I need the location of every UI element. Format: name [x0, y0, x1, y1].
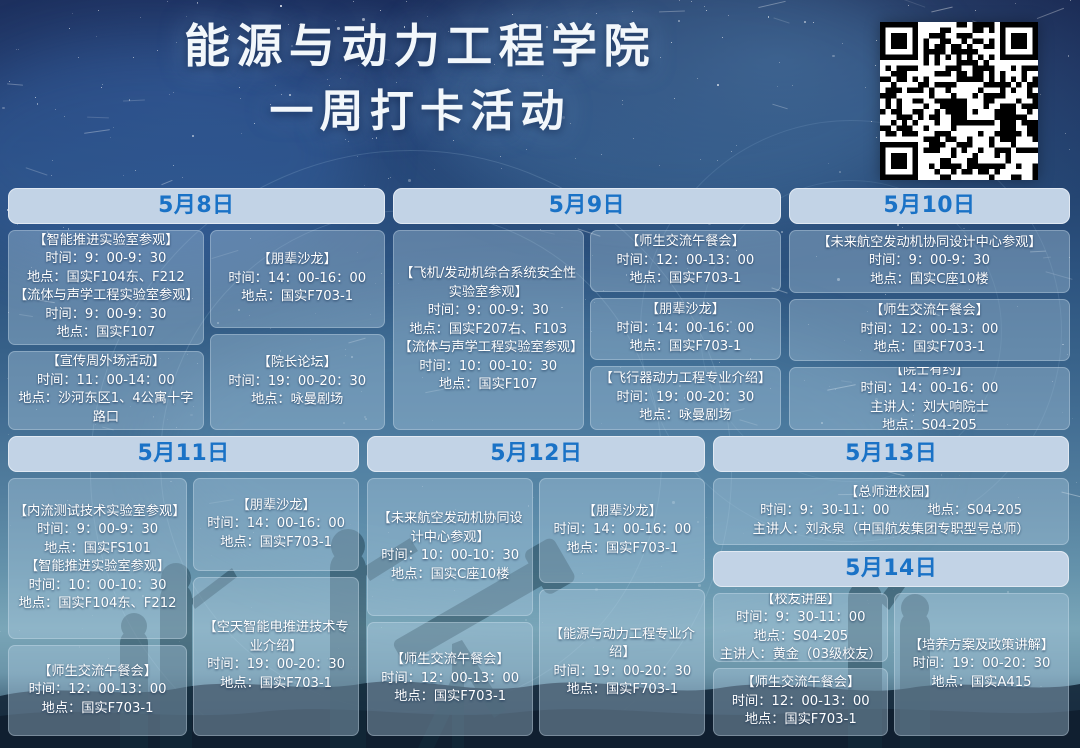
day-events: 【校友讲座】时间：9：30-11：00地点：S04-205主讲人：黄金（03级校…: [713, 593, 1068, 736]
event-location: 地点：国实F104东、F212: [14, 269, 198, 287]
event-stack: 【校友讲座】时间：9：30-11：00地点：S04-205主讲人：黄金（03级校…: [713, 593, 888, 736]
event-card: 【空天智能电推进技术专业介绍】时间：19：00-20：30地点：国实F703-1: [193, 577, 359, 736]
event-card: 【总师进校园】时间：9：30-11：00地点：S04-205主讲人：刘永泉（中国…: [713, 478, 1068, 545]
date-header[interactable]: 5月14日: [713, 551, 1068, 587]
event-title: 【能源与动力工程专业介绍】: [545, 626, 699, 663]
event-card: 【智能推进实验室参观】时间：9：00-9：30地点：国实F104东、F212【流…: [8, 230, 204, 345]
event-title: 【朋辈沙龙】: [596, 301, 775, 319]
event-title: 【院长论坛】: [216, 354, 379, 372]
event-time: 时间：12：00-13：00: [596, 252, 775, 270]
poster-header: 能源与动力工程学院 一周打卡活动: [0, 0, 1080, 190]
week-row-2: 5月11日【内流测试技术实验室参观】时间：9：00-9：30地点：国实FS101…: [0, 436, 1080, 736]
event-time: 时间：9：30-11：00: [719, 609, 882, 627]
event-location: 地点：国实F703-1: [14, 700, 181, 718]
event-stack: 【师生交流午餐会】时间：12：00-13：00地点：国实F703-1【朋辈沙龙】…: [590, 230, 781, 430]
date-header[interactable]: 5月12日: [367, 436, 705, 472]
qr-code[interactable]: [880, 22, 1038, 180]
event-card: 【校友讲座】时间：9：30-11：00地点：S04-205主讲人：黄金（03级校…: [713, 593, 888, 661]
event-stack: 【飞机/发动机综合系统安全性实验室参观】时间：9：00-9：30地点：国实F20…: [393, 230, 584, 430]
event-location: 地点：国实F703-1: [795, 339, 1064, 357]
event-card: 【飞行器动力工程专业介绍】时间：19：00-20：30地点：咏曼剧场: [590, 366, 781, 430]
event-card: 【师生交流午餐会】时间：12：00-13：00地点：国实F703-1: [789, 299, 1070, 362]
event-card: 【朋辈沙龙】时间：14：00-16：00地点：国实F703-1: [210, 230, 385, 328]
event-stack: 【未来航空发动机协同设计中心参观】时间：10：00-10：30地点：国实C座10…: [367, 478, 533, 736]
event-speaker: 主讲人：刘大响院士: [795, 399, 1064, 417]
event-title: 【宣传周外场活动】: [14, 353, 198, 371]
day-events: 【未来航空发动机协同设计中心参观】时间：10：00-10：30地点：国实C座10…: [367, 478, 705, 736]
title-block: 能源与动力工程学院 一周打卡活动: [0, 20, 840, 137]
event-card: 【师生交流午餐会】时间：12：00-13：00地点：国实F703-1: [367, 622, 533, 736]
event-title: 【流体与声学工程实验室参观】: [399, 339, 578, 357]
event-card: 【宣传周外场活动】时间：11：00-14：00地点：沙河东区1、4公寓十字路口: [8, 351, 204, 430]
event-title: 【未来航空发动机协同设计中心参观】: [373, 510, 527, 547]
event-title: 【师生交流午餐会】: [596, 233, 775, 251]
day-column: 5月9日【飞机/发动机综合系统安全性实验室参观】时间：9：00-9：30地点：国…: [393, 188, 781, 430]
event-stack: 【朋辈沙龙】时间：14：00-16：00地点：国实F703-1【空天智能电推进技…: [193, 478, 359, 736]
event-title: 【未来航空发动机协同设计中心参观】: [795, 234, 1064, 252]
event-time: 时间：19：00-20：30: [216, 373, 379, 391]
week-row-1: 5月8日【智能推进实验室参观】时间：9：00-9：30地点：国实F104东、F2…: [0, 188, 1080, 430]
event-title: 【内流测试技术实验室参观】: [14, 503, 181, 521]
event-card: 【内流测试技术实验室参观】时间：9：00-9：30地点：国实FS101【智能推进…: [8, 478, 187, 639]
event-title: 【飞行器动力工程专业介绍】: [596, 370, 775, 388]
event-title: 【朋辈沙龙】: [216, 251, 379, 269]
event-time: 时间：10：00-10：30: [373, 547, 527, 565]
event-title: 【培养方案及政策讲解】: [900, 637, 1063, 655]
event-card: 【未来航空发动机协同设计中心参观】时间：9：00-9：30地点：国实C座10楼: [789, 230, 1070, 293]
event-card: 【培养方案及政策讲解】时间：19：00-20：30地点：国实A415: [894, 593, 1069, 736]
date-header[interactable]: 5月11日: [8, 436, 359, 472]
event-title: 【总师进校园】: [721, 484, 1060, 502]
event-card: 【师生交流午餐会】时间：12：00-13：00地点：国实F703-1: [8, 645, 187, 736]
event-time: 时间：12：00-13：00: [795, 321, 1064, 339]
event-time: 时间：9：00-9：30: [14, 306, 198, 324]
event-time: 时间：12：00-13：00: [719, 693, 882, 711]
event-location: 地点：国实C座10楼: [795, 271, 1064, 289]
event-title: 【师生交流午餐会】: [795, 302, 1064, 320]
event-location: 地点：国实FS101: [14, 540, 181, 558]
event-time: 时间：14：00-16：00: [216, 270, 379, 288]
day-column: 5月8日【智能推进实验室参观】时间：9：00-9：30地点：国实F104东、F2…: [8, 188, 385, 430]
event-location: 地点：国实F703-1: [199, 675, 353, 693]
event-title: 【朋辈沙龙】: [199, 497, 353, 515]
event-stack: 【智能推进实验室参观】时间：9：00-9：30地点：国实F104东、F212【流…: [8, 230, 204, 430]
date-header[interactable]: 5月8日: [8, 188, 385, 224]
event-location: 地点：国实F703-1: [545, 681, 699, 699]
event-stack: 【未来航空发动机协同设计中心参观】时间：9：00-9：30地点：国实C座10楼【…: [789, 230, 1070, 430]
event-card: 【院长论坛】时间：19：00-20：30地点：咏曼剧场: [210, 334, 385, 430]
event-time-location: 时间：9：30-11：00地点：S04-205: [721, 502, 1060, 520]
day-events: 【飞机/发动机综合系统安全性实验室参观】时间：9：00-9：30地点：国实F20…: [393, 230, 781, 430]
event-location: 地点：国实F703-1: [719, 711, 882, 729]
event-title: 【飞机/发动机综合系统安全性实验室参观】: [399, 265, 578, 302]
day-events: 【内流测试技术实验室参观】时间：9：00-9：30地点：国实FS101【智能推进…: [8, 478, 359, 736]
page-subtitle: 一周打卡活动: [0, 87, 840, 138]
event-location: 地点：S04-205: [719, 628, 882, 646]
event-title: 【朋辈沙龙】: [545, 503, 699, 521]
schedule-grid: 5月8日【智能推进实验室参观】时间：9：00-9：30地点：国实F104东、F2…: [0, 188, 1080, 736]
event-time: 时间：9：30-11：00: [760, 502, 889, 520]
date-header[interactable]: 5月13日: [713, 436, 1068, 472]
event-card: 【未来航空发动机协同设计中心参观】时间：10：00-10：30地点：国实C座10…: [367, 478, 533, 616]
event-location: 地点：国实F703-1: [596, 338, 775, 356]
event-location: 地点：国实F703-1: [216, 288, 379, 306]
event-time: 时间：12：00-13：00: [373, 670, 527, 688]
event-time: 时间：12：00-13：00: [14, 681, 181, 699]
event-time: 时间：10：00-10：30: [14, 577, 181, 595]
event-card: 【朋辈沙龙】时间：14：00-16：00地点：国实F703-1: [590, 298, 781, 360]
event-location: 地点：沙河东区1、4公寓十字路口: [14, 390, 198, 427]
event-stack: 【朋辈沙龙】时间：14：00-16：00地点：国实F703-1【院长论坛】时间：…: [210, 230, 385, 430]
event-location: 地点：国实F703-1: [373, 688, 527, 706]
event-time: 时间：19：00-20：30: [596, 389, 775, 407]
event-title: 【院士有约】: [795, 367, 1064, 380]
event-card: 【师生交流午餐会】时间：12：00-13：00地点：国实F703-1: [713, 668, 888, 736]
date-header[interactable]: 5月10日: [789, 188, 1070, 224]
event-title: 【校友讲座】: [719, 593, 882, 609]
event-title: 【智能推进实验室参观】: [14, 558, 181, 576]
event-location: 地点：咏曼剧场: [596, 407, 775, 425]
event-title: 【智能推进实验室参观】: [14, 232, 198, 250]
event-time: 时间：19：00-20：30: [900, 655, 1063, 673]
event-time: 时间：19：00-20：30: [199, 656, 353, 674]
event-time: 时间：9：00-9：30: [14, 250, 198, 268]
event-stack: 【培养方案及政策讲解】时间：19：00-20：30地点：国实A415: [894, 593, 1069, 736]
event-location: 地点：咏曼剧场: [216, 391, 379, 409]
event-card: 【朋辈沙龙】时间：14：00-16：00地点：国实F703-1: [539, 478, 705, 583]
event-time: 时间：14：00-16：00: [545, 521, 699, 539]
event-title: 【师生交流午餐会】: [373, 651, 527, 669]
event-card: 【能源与动力工程专业介绍】时间：19：00-20：30地点：国实F703-1: [539, 589, 705, 736]
event-card: 【飞机/发动机综合系统安全性实验室参观】时间：9：00-9：30地点：国实F20…: [393, 230, 584, 430]
event-location: 地点：S04-205: [795, 417, 1064, 430]
event-location: 地点：国实F107: [399, 376, 578, 394]
event-time: 时间：10：00-10：30: [399, 358, 578, 376]
page-title: 能源与动力工程学院: [0, 20, 840, 73]
event-location: 地点：国实F207右、F103: [399, 321, 578, 339]
event-card: 【师生交流午餐会】时间：12：00-13：00地点：国实F703-1: [590, 230, 781, 292]
event-location: 地点：国实A415: [900, 674, 1063, 692]
event-speaker: 主讲人：刘永泉（中国航发集团专职型号总师）: [721, 521, 1060, 539]
event-stack: 【朋辈沙龙】时间：14：00-16：00地点：国实F703-1【能源与动力工程专…: [539, 478, 705, 736]
event-location: 地点：国实F107: [14, 324, 198, 342]
poster-root: 能源与动力工程学院 一周打卡活动 5月8日【智能推进实验室参观】时间：9：00-…: [0, 0, 1080, 748]
event-title: 【师生交流午餐会】: [719, 674, 882, 692]
event-location: 地点：国实F703-1: [545, 540, 699, 558]
day-events: 【未来航空发动机协同设计中心参观】时间：9：00-9：30地点：国实C座10楼【…: [789, 230, 1070, 430]
event-location: 地点：国实F104东、F212: [14, 595, 181, 613]
event-card: 【院士有约】时间：14：00-16：00主讲人：刘大响院士地点：S04-205: [789, 367, 1070, 430]
event-time: 时间：14：00-16：00: [795, 380, 1064, 398]
event-time: 时间：19：00-20：30: [545, 663, 699, 681]
event-time: 时间：9：00-9：30: [795, 252, 1064, 270]
event-time: 时间：14：00-16：00: [596, 320, 775, 338]
day-column: 5月10日【未来航空发动机协同设计中心参观】时间：9：00-9：30地点：国实C…: [789, 188, 1070, 430]
day-column: 5月11日【内流测试技术实验室参观】时间：9：00-9：30地点：国实FS101…: [8, 436, 359, 736]
date-header[interactable]: 5月9日: [393, 188, 781, 224]
day-column: 5月13日【总师进校园】时间：9：30-11：00地点：S04-205主讲人：刘…: [713, 436, 1068, 736]
event-title: 【师生交流午餐会】: [14, 663, 181, 681]
event-time: 时间：14：00-16：00: [199, 515, 353, 533]
day-events: 【智能推进实验室参观】时间：9：00-9：30地点：国实F104东、F212【流…: [8, 230, 385, 430]
event-time: 时间：11：00-14：00: [14, 372, 198, 390]
event-title: 【空天智能电推进技术专业介绍】: [199, 619, 353, 656]
event-location: 地点：国实F703-1: [596, 270, 775, 288]
event-time: 时间：9：00-9：30: [14, 521, 181, 539]
event-location: 地点：S04-205: [928, 502, 1023, 520]
day-column: 5月12日【未来航空发动机协同设计中心参观】时间：10：00-10：30地点：国…: [367, 436, 705, 736]
event-card: 【朋辈沙龙】时间：14：00-16：00地点：国实F703-1: [193, 478, 359, 571]
event-location: 地点：国实F703-1: [199, 534, 353, 552]
event-title: 【流体与声学工程实验室参观】: [14, 287, 198, 305]
event-speaker: 主讲人：黄金（03级校友）: [719, 646, 882, 662]
event-time: 时间：9：00-9：30: [399, 302, 578, 320]
event-location: 地点：国实C座10楼: [373, 566, 527, 584]
event-stack: 【内流测试技术实验室参观】时间：9：00-9：30地点：国实FS101【智能推进…: [8, 478, 187, 736]
